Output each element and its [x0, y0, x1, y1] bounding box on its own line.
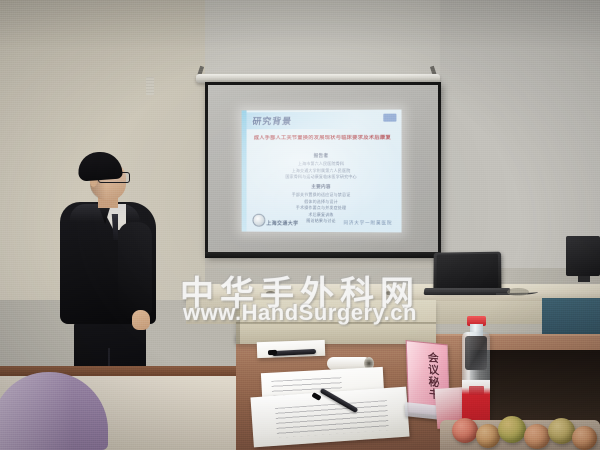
- monitor-stand: [578, 276, 590, 282]
- presenter-hair: [77, 150, 123, 181]
- cable-grommet: [266, 291, 275, 295]
- fruit-pear: [524, 424, 550, 449]
- presenter-arm: [118, 222, 152, 318]
- slide-footer-right-text: 同济大学一附属医院: [343, 220, 392, 226]
- fruit-apple: [548, 418, 575, 444]
- university-seal-icon: [252, 214, 265, 227]
- mouse-pad: [507, 288, 529, 296]
- presenter-hand: [132, 310, 150, 330]
- presentation-photo: 研究背景 成人手部人工关节置换的发展现状与临床要求及术后康复 报告者 上海市第六…: [0, 0, 600, 450]
- side-monitor: [566, 236, 600, 276]
- lectern-side-panel: [236, 300, 240, 344]
- pen-cap: [268, 350, 277, 355]
- lectern-seam: [236, 322, 436, 324]
- fruit-apple: [498, 416, 526, 443]
- fruit-pear: [572, 426, 597, 450]
- slide-line: 国家骨科与运动康复临床医学研究中心: [271, 174, 371, 181]
- bottle-reflection: [465, 336, 487, 370]
- laptop-screen: [436, 254, 498, 288]
- slide-corner-logo-icon: [383, 114, 396, 122]
- slide-section-two-label: 主要内容: [242, 184, 402, 190]
- slide-section-one-lines: 上海市第六人民医院骨科 上海交通大学附属第六人民医院 国家骨科与运动康复临床医学…: [271, 161, 371, 181]
- slide-section-one-label: 报告者: [242, 153, 402, 159]
- slide-title: 成人手部人工关节置换的发展现状与临床要求及术后康复: [253, 135, 391, 143]
- wall-vent: [146, 77, 154, 95]
- fruit-pear: [476, 424, 500, 448]
- projected-slide: 研究背景 成人手部人工关节置换的发展现状与临床要求及术后康复 报告者 上海市第六…: [242, 110, 402, 233]
- slide-footer-institution: 上海交通大学: [266, 220, 298, 227]
- screen-bottom-bar: [205, 252, 441, 258]
- cable-grommet: [385, 291, 394, 295]
- fruit-apple: [452, 418, 478, 443]
- ceiling-shadow: [0, 0, 600, 50]
- laptop-lid: [433, 252, 501, 291]
- bottle-label-mark: [469, 386, 484, 395]
- slide-header-tab-label: 研究背景: [252, 114, 293, 127]
